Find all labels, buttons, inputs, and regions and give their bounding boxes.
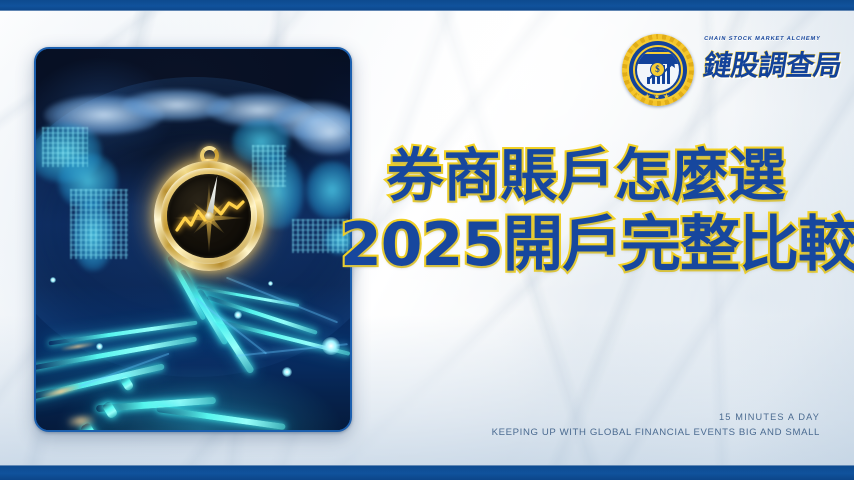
golden-compass: [154, 161, 264, 271]
tagline-line-1: 15 MINUTES A DAY: [470, 412, 820, 422]
brand-logo-text: CHAIN STOCK MARKET ALCHEMY 鏈股調查局: [704, 36, 828, 84]
hero-image: [36, 49, 350, 430]
brand-tagline-en: CHAIN STOCK MARKET ALCHEMY: [703, 36, 828, 42]
page-title: 券商賬戶怎麼選 2025開戶完整比較: [340, 146, 832, 278]
brand-logo[interactable]: $ ★★★★★ CHAIN STOCK MARKET ALCHEMY 鏈股調查局: [622, 30, 827, 110]
thumbnail-canvas: $ ★★★★★ CHAIN STOCK MARKET ALCHEMY 鏈股調查局…: [0, 0, 854, 480]
network-node: [282, 367, 292, 377]
emblem-inner-face: $: [637, 49, 679, 91]
pixel-cluster: [70, 189, 128, 259]
emblem-stars: ★★★★★: [622, 93, 694, 101]
network-node: [50, 277, 56, 283]
tagline-line-2: KEEPING UP WITH GLOBAL FINANCIAL EVENTS …: [470, 427, 820, 438]
bottom-accent-bar: [0, 465, 854, 480]
network-node: [322, 337, 340, 355]
network-node: [234, 311, 242, 319]
network-node: [268, 281, 273, 286]
title-line-2: 2025開戶完整比較: [340, 214, 832, 278]
emblem-dollar-coin-icon: $: [650, 62, 665, 77]
compass-face: [167, 174, 251, 258]
chain-stock-market-alchemy-emblem: $ ★★★★★: [622, 34, 694, 106]
show-tagline: 15 MINUTES A DAY KEEPING UP WITH GLOBAL …: [470, 412, 820, 438]
top-accent-bar: [0, 0, 854, 11]
pixel-cluster: [42, 127, 88, 167]
brand-name-cn: 鏈股調查局: [701, 44, 831, 84]
title-line-1: 券商賬戶怎麼選: [340, 146, 832, 206]
hero-image-card: [34, 47, 352, 432]
compass-hub: [205, 212, 214, 221]
network-node: [96, 343, 103, 350]
